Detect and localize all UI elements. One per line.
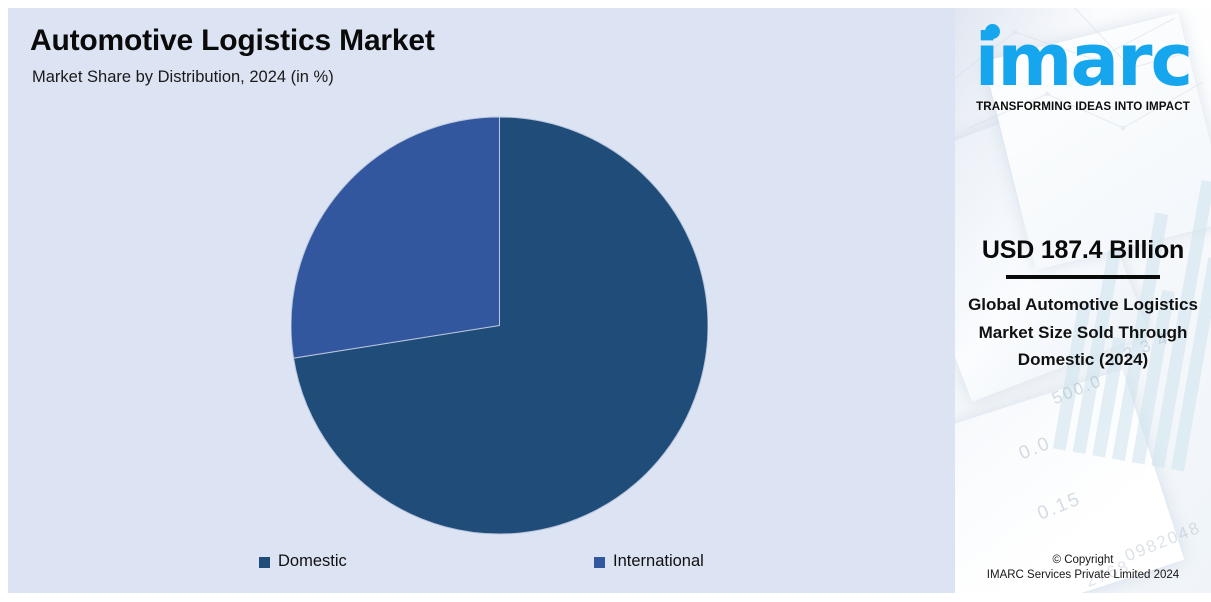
chart-subtitle: Market Share by Distribution, 2024 (in %… — [32, 68, 334, 87]
page-title: Automotive Logistics Market — [30, 24, 435, 58]
legend-item-international[interactable]: International — [594, 552, 704, 571]
stat-divider — [1006, 275, 1160, 279]
brand-panel: 1 2 3 4 500.0 0.0 0.15 0982048 2768 imar… — [955, 8, 1211, 593]
pie-slices — [291, 117, 708, 534]
logo-mark: imarc — [975, 22, 1191, 98]
stat-description: Global Automotive Logistics Market Size … — [955, 291, 1211, 374]
copyright-company: IMARC Services Private Limited 2024 — [955, 569, 1211, 581]
chart-panel: Automotive Logistics Market Market Share… — [8, 8, 955, 593]
legend-label: International — [613, 552, 704, 571]
pie-chart-svg — [291, 116, 708, 535]
legend-label: Domestic — [278, 552, 347, 571]
legend-swatch-icon — [594, 557, 605, 568]
brand-logo[interactable]: imarc TRANSFORMING IDEAS INTO IMPACT — [955, 22, 1211, 113]
pie-slice-international[interactable] — [291, 117, 499, 358]
pie-chart — [291, 116, 708, 535]
logo-wordmark: imarc — [975, 18, 1191, 102]
chart-legend: Domestic International — [8, 552, 955, 578]
copyright-text: © Copyright — [955, 554, 1211, 566]
copyright-footer: © Copyright IMARC Services Private Limit… — [955, 554, 1211, 581]
legend-swatch-icon — [259, 557, 270, 568]
logo-dot-icon — [985, 24, 1000, 39]
infographic-root: Automotive Logistics Market Market Share… — [0, 0, 1211, 602]
stat-value: USD 187.4 Billion — [955, 236, 1211, 265]
stat-block: USD 187.4 Billion Global Automotive Logi… — [955, 236, 1211, 374]
legend-item-domestic[interactable]: Domestic — [259, 552, 347, 571]
